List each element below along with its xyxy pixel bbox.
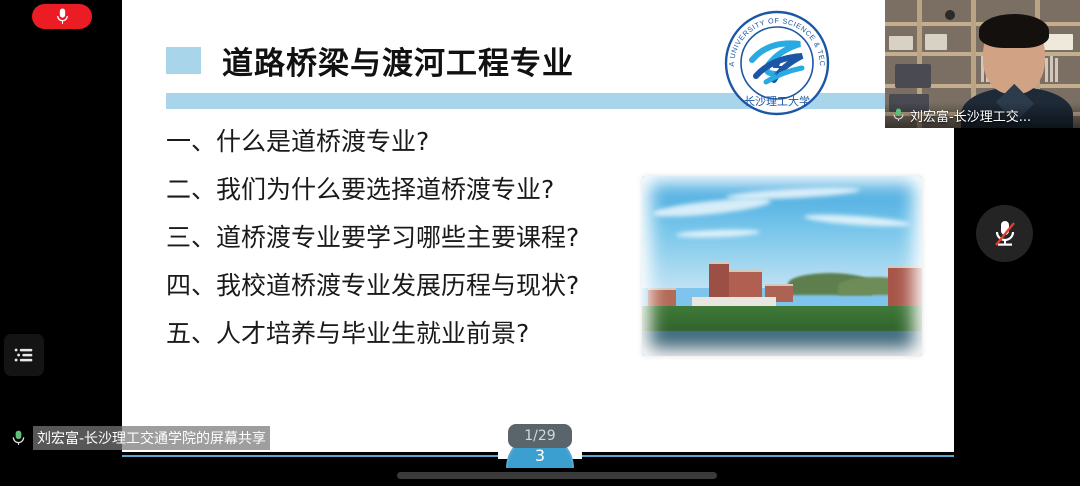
video-participant-name: 刘宏富-长沙理工交... xyxy=(910,106,1031,125)
mic-record-button[interactable] xyxy=(32,4,92,29)
microphone-icon xyxy=(893,108,904,122)
title-accent-square xyxy=(166,47,201,74)
svg-text:长沙理工大学: 长沙理工大学 xyxy=(744,94,810,108)
screen-share-label: 刘宏富-长沙理工交通学院的屏幕共享 xyxy=(33,426,270,450)
page-count-tooltip: 1/29 xyxy=(508,424,572,448)
microphone-muted-icon xyxy=(992,219,1018,249)
participants-list-icon xyxy=(14,347,34,363)
list-item: 一、什么是道桥渡专业? xyxy=(166,129,686,154)
list-item: 五、人才培养与毕业生就业前景? xyxy=(166,321,686,346)
current-page-number: 3 xyxy=(535,446,545,468)
slide-title-row: 道路桥梁与渡河工程专业 xyxy=(166,38,574,83)
campus-aerial-photo xyxy=(642,176,922,356)
microphone-icon xyxy=(56,8,69,25)
screen-share-banner: 刘宏富-长沙理工交通学院的屏幕共享 xyxy=(12,425,270,451)
shared-slide[interactable]: 道路桥梁与渡河工程专业 一、什么是道桥渡专业? 二、我们为什么要选择道桥渡专业?… xyxy=(122,0,954,452)
list-item: 二、我们为什么要选择道桥渡专业? xyxy=(166,177,686,202)
video-name-label: 刘宏富-长沙理工交... xyxy=(885,102,1080,128)
changsha-university-logo: CHANGSHA UNIVERSITY OF SCIENCE & TECHNOL… xyxy=(722,8,832,118)
title-underline-bar xyxy=(166,93,954,109)
mute-toggle-button[interactable] xyxy=(976,205,1033,262)
home-indicator[interactable] xyxy=(397,472,717,479)
participant-video-tile[interactable]: 刘宏富-长沙理工交... xyxy=(885,0,1080,128)
zoom-meeting-window: 道路桥梁与渡河工程专业 一、什么是道桥渡专业? 二、我们为什么要选择道桥渡专业?… xyxy=(0,0,1080,486)
page-title: 道路桥梁与渡河工程专业 xyxy=(222,38,574,83)
list-item: 三、道桥渡专业要学习哪些主要课程? xyxy=(166,225,686,250)
left-letterbox xyxy=(0,0,122,486)
microphone-icon xyxy=(12,430,25,446)
page-count-label: 1/29 xyxy=(524,428,555,444)
participants-list-button[interactable] xyxy=(4,334,44,376)
slide-bullet-list: 一、什么是道桥渡专业? 二、我们为什么要选择道桥渡专业? 三、道桥渡专业要学习哪… xyxy=(166,129,686,369)
list-item: 四、我校道桥渡专业发展历程与现状? xyxy=(166,273,686,298)
